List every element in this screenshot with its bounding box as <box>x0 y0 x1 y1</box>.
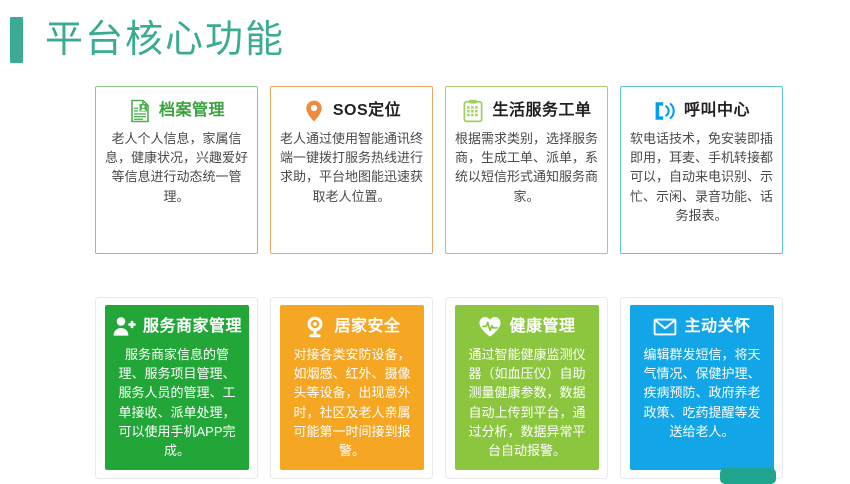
card-header: 档案管理 <box>105 98 248 124</box>
heart-pulse-icon <box>478 315 502 339</box>
card-body-text: 通过智能健康监测仪器（如血压仪）自助测量健康参数，数据自动上传到平台，通过分析，… <box>463 345 591 460</box>
feature-card-proactive-care[interactable]: 主动关怀 编辑群发短信，将天气情况、保健护理、疾病预防、政府养老政策、吃药提醒等… <box>630 305 774 470</box>
document-person-icon <box>128 99 152 123</box>
card-title: SOS定位 <box>333 102 401 120</box>
feature-card-call-center[interactable]: 呼叫中心 软电话技术，免安装即插即用，耳麦、手机转接都可以，自动来电识别、示忙、… <box>620 86 783 254</box>
card-body-text: 老人个人信息，家属信息，健康状况，兴趣爱好等信息进行动态统一管理。 <box>105 129 248 206</box>
feature-card-service-vendor-management[interactable]: 服务商家管理 服务商家信息的管理、服务项目管理、服务人员的管理、工单接收、派单处… <box>105 305 249 470</box>
card-body-text: 对接各类安防设备，如烟感、红外、摄像头等设备，出现意外时，社区及老人亲属可能第一… <box>288 345 416 460</box>
card-header: 健康管理 <box>463 314 591 340</box>
feature-cards-grid: 档案管理 老人个人信息，家属信息，健康状况，兴趣爱好等信息进行动态统一管理。 S… <box>95 86 795 479</box>
page-title: 平台核心功能 <box>45 21 285 59</box>
title-accent-bar <box>10 17 23 63</box>
card-shell-call-center: 呼叫中心 软电话技术，免安装即插即用，耳麦、手机转接都可以，自动来电识别、示忙、… <box>620 86 783 270</box>
feature-card-row-2: 服务商家管理 服务商家信息的管理、服务项目管理、服务人员的管理、工单接收、派单处… <box>95 297 795 479</box>
map-pin-icon <box>302 99 326 123</box>
feature-card-home-safety[interactable]: 居家安全 对接各类安防设备，如烟感、红外、摄像头等设备，出现意外时，社区及老人亲… <box>280 305 424 470</box>
card-title: 档案管理 <box>159 102 225 120</box>
feature-card-row-1: 档案管理 老人个人信息，家属信息，健康状况，兴趣爱好等信息进行动态统一管理。 S… <box>95 86 795 270</box>
card-title: 服务商家管理 <box>143 318 242 336</box>
card-title: 生活服务工单 <box>492 102 591 120</box>
card-shell-sos-locate: SOS定位 老人通过使用智能通讯终端一键拨打服务热线进行求助，平台地图能迅速获取… <box>270 86 433 270</box>
envelope-icon <box>653 315 677 339</box>
card-shell-archive-management: 档案管理 老人个人信息，家属信息，健康状况，兴趣爱好等信息进行动态统一管理。 <box>95 86 258 270</box>
clipboard-grid-icon <box>461 99 485 123</box>
card-shell-life-service-work-order: 生活服务工单 根据需求类别，选择服务商，生成工单、派单，系统以短信形式通知服务商… <box>445 86 608 270</box>
card-header: 主动关怀 <box>638 314 766 340</box>
user-plus-icon <box>112 315 136 339</box>
feature-card-life-service-work-order[interactable]: 生活服务工单 根据需求类别，选择服务商，生成工单、派单，系统以短信形式通知服务商… <box>445 86 608 254</box>
page-header: 平台核心功能 <box>0 0 850 80</box>
card-header: 居家安全 <box>288 314 416 340</box>
card-shell-health-management: 健康管理 通过智能健康监测仪器（如血压仪）自助测量健康参数，数据自动上传到平台，… <box>445 297 608 479</box>
phone-waves-icon <box>653 99 677 123</box>
card-title: 健康管理 <box>509 318 575 336</box>
card-title: 居家安全 <box>334 318 400 336</box>
camera-icon <box>303 315 327 339</box>
card-body-text: 软电话技术，免安装即插即用，耳麦、手机转接都可以，自动来电识别、示忙、示闲、录音… <box>630 129 773 225</box>
card-header: 生活服务工单 <box>455 98 598 124</box>
card-body-text: 编辑群发短信，将天气情况、保健护理、疾病预防、政府养老政策、吃药提醒等发送给老人… <box>638 345 766 441</box>
card-shell-proactive-care: 主动关怀 编辑群发短信，将天气情况、保健护理、疾病预防、政府养老政策、吃药提醒等… <box>620 297 783 479</box>
card-body-text: 服务商家信息的管理、服务项目管理、服务人员的管理、工单接收、派单处理，可以使用手… <box>113 345 241 460</box>
card-shell-home-safety: 居家安全 对接各类安防设备，如烟感、红外、摄像头等设备，出现意外时，社区及老人亲… <box>270 297 433 479</box>
card-body-text: 老人通过使用智能通讯终端一键拨打服务热线进行求助，平台地图能迅速获取老人位置。 <box>280 129 423 206</box>
feature-card-sos-locate[interactable]: SOS定位 老人通过使用智能通讯终端一键拨打服务热线进行求助，平台地图能迅速获取… <box>270 86 433 254</box>
card-header: 服务商家管理 <box>113 314 241 340</box>
corner-decoration-chip <box>720 468 776 484</box>
card-title: 主动关怀 <box>684 318 750 336</box>
feature-card-health-management[interactable]: 健康管理 通过智能健康监测仪器（如血压仪）自助测量健康参数，数据自动上传到平台，… <box>455 305 599 470</box>
card-header: 呼叫中心 <box>630 98 773 124</box>
card-header: SOS定位 <box>280 98 423 124</box>
card-body-text: 根据需求类别，选择服务商，生成工单、派单，系统以短信形式通知服务商家。 <box>455 129 598 206</box>
card-title: 呼叫中心 <box>684 102 750 120</box>
card-shell-service-vendor-management: 服务商家管理 服务商家信息的管理、服务项目管理、服务人员的管理、工单接收、派单处… <box>95 297 258 479</box>
feature-card-archive-management[interactable]: 档案管理 老人个人信息，家属信息，健康状况，兴趣爱好等信息进行动态统一管理。 <box>95 86 258 254</box>
